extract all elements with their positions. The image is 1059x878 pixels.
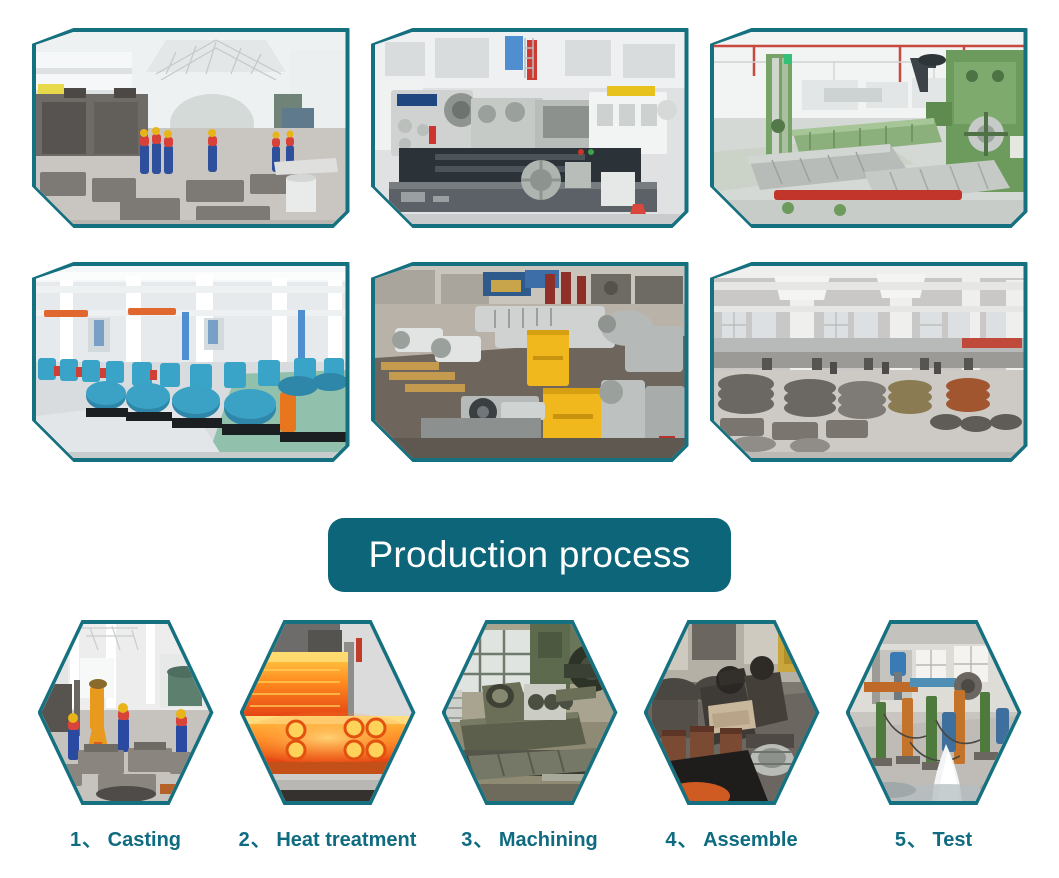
step-casting-number: 1	[70, 829, 81, 851]
step-machining-image	[446, 624, 614, 801]
card-foundry-workshop[interactable]	[32, 28, 350, 228]
production-steps: 1、 Casting	[0, 620, 1059, 852]
heat-treatment-illustration	[244, 624, 412, 801]
step-heat-treatment-number: 2	[239, 829, 250, 851]
step-assemble-hexagon	[644, 620, 820, 805]
step-casting-label: 1、 Casting	[70, 823, 181, 852]
step-assemble[interactable]: 4、 Assemble	[635, 620, 829, 852]
step-casting-image	[42, 624, 210, 801]
step-assemble-separator: 、	[678, 829, 698, 851]
step-casting-text: Casting	[108, 829, 181, 851]
step-assemble-image	[648, 624, 816, 801]
step-heat-treatment-label: 2、 Heat treatment	[239, 823, 417, 852]
step-test[interactable]: 5、 Test	[837, 620, 1031, 852]
card-cnc-lathe[interactable]	[371, 28, 689, 228]
banner-title: Production process	[368, 534, 690, 576]
card-foundry-workshop-image	[36, 32, 346, 224]
pump-line-illustration	[36, 266, 346, 458]
castings-illustration	[714, 266, 1024, 458]
test-illustration	[850, 624, 1018, 801]
step-assemble-label: 4、 Assemble	[665, 823, 797, 852]
step-test-image	[850, 624, 1018, 801]
machining-illustration	[446, 624, 614, 801]
step-test-number: 5	[895, 829, 906, 851]
step-machining[interactable]: 3、 Machining	[433, 620, 627, 852]
step-casting[interactable]: 1、 Casting	[29, 620, 223, 852]
step-casting-hexagon	[38, 620, 214, 805]
casting-illustration	[42, 624, 210, 801]
card-pump-assembly-line-image	[36, 266, 346, 458]
boring-mill-illustration	[714, 32, 1024, 224]
banner-row: Production process	[0, 518, 1059, 592]
card-boring-mill-image	[714, 32, 1024, 224]
step-machining-label: 3、 Machining	[461, 823, 598, 852]
step-assemble-number: 4	[665, 829, 676, 851]
card-pump-assembly-line[interactable]	[32, 262, 350, 462]
facility-row-1	[0, 28, 1059, 228]
step-test-hexagon	[846, 620, 1022, 805]
step-test-text: Test	[933, 829, 973, 851]
step-machining-hexagon	[442, 620, 618, 805]
production-process-page: Production process	[0, 0, 1059, 878]
card-pump-units-yellow[interactable]	[371, 262, 689, 462]
step-machining-separator: 、	[473, 829, 493, 851]
step-test-label: 5、 Test	[895, 823, 972, 852]
pump-units-illustration	[375, 266, 685, 458]
card-castings-warehouse[interactable]	[710, 262, 1028, 462]
step-assemble-text: Assemble	[703, 829, 798, 851]
step-heat-treatment-separator: 、	[251, 829, 271, 851]
step-heat-treatment[interactable]: 2、 Heat treatment	[231, 620, 425, 852]
foundry-illustration	[36, 32, 346, 224]
card-boring-mill[interactable]	[710, 28, 1028, 228]
step-machining-number: 3	[461, 829, 472, 851]
step-test-separator: 、	[907, 829, 927, 851]
card-castings-warehouse-image	[714, 266, 1024, 458]
card-pump-units-yellow-image	[375, 266, 685, 458]
production-process-banner: Production process	[328, 518, 731, 592]
step-casting-separator: 、	[82, 829, 102, 851]
assemble-illustration	[648, 624, 816, 801]
step-heat-treatment-text: Heat treatment	[276, 829, 416, 851]
step-heat-treatment-image	[244, 624, 412, 801]
lathe-illustration	[375, 32, 685, 224]
step-heat-treatment-hexagon	[240, 620, 416, 805]
card-cnc-lathe-image	[375, 32, 685, 224]
step-machining-text: Machining	[499, 829, 598, 851]
facility-row-2	[0, 262, 1059, 462]
